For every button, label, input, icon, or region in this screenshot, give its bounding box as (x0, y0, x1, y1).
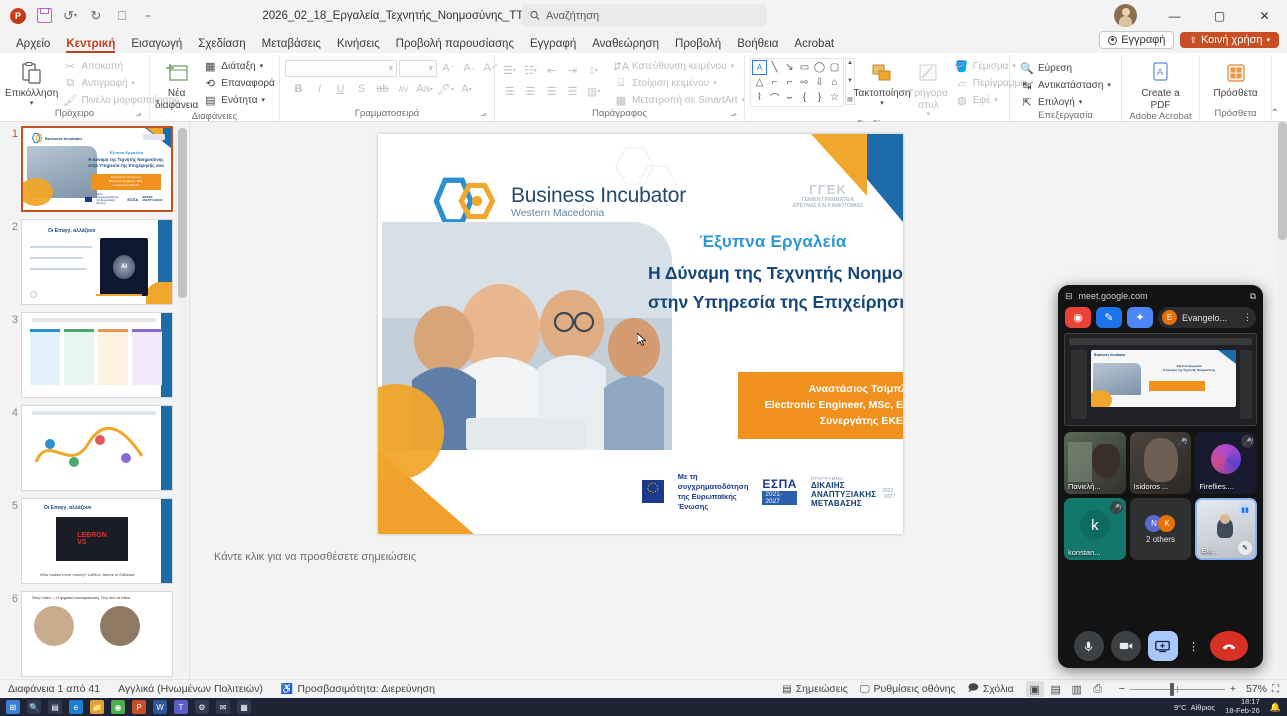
layout-caret-icon: ▾ (260, 62, 264, 70)
create-pdf-button[interactable]: A Create a PDF (1133, 58, 1189, 111)
participant-name: Isidoros ... (1134, 482, 1169, 491)
slide-title-line1: Έξυπνα Εργαλεία (648, 232, 898, 252)
justify-button[interactable]: ☰ (563, 82, 582, 100)
participant-tile[interactable]: Πανιελή... (1064, 432, 1126, 494)
slide-title-block[interactable]: Έξυπνα Εργαλεία Η Δύναμη της Τεχνητής Νο… (648, 232, 898, 316)
strikethrough-button[interactable]: ab (373, 80, 392, 98)
display-settings-label: Ρυθμίσεις οθόνης (873, 683, 955, 695)
thumbnail-number: 6 (4, 591, 18, 605)
slide-count-label[interactable]: Διαφάνεια 1 από 41 (8, 683, 100, 695)
ribbon-group-clipboard: Επικόλληση ▾ ✂Αποκοπή ⧉Αντιγραφή▾ 🖌Πινέλ… (0, 55, 150, 121)
select-icon: ⇱ (1020, 95, 1034, 109)
share-label: Κοινή χρήση (1201, 34, 1263, 46)
espa-years: 2021-2027 (762, 491, 797, 505)
eu-cofunding-text: Με τη συγχρηματοδότηση της Ευρωπαϊκής Έν… (678, 472, 749, 513)
freeform-shape-icon[interactable]: ⌇ (752, 90, 767, 105)
reset-button[interactable]: ⟲Επαναφορά (200, 75, 278, 91)
tab-metavaseis[interactable]: Μεταβάσεις (254, 37, 329, 53)
section-caret-icon: ▾ (262, 96, 266, 104)
logo-title: Business Incubator (511, 184, 686, 208)
participant-tile-active[interactable]: ▮▮ Evi... ✎ (1195, 498, 1257, 560)
layout-button[interactable]: ▦Διάταξη▾ (200, 58, 278, 74)
mail-icon[interactable]: ✉ (216, 700, 230, 714)
thumbnail-number: 4 (4, 405, 18, 419)
logo-subtitle: Western Macedonia (511, 207, 686, 219)
participant-tile[interactable]: 🎤̸ Isidoros ... (1130, 432, 1192, 494)
thumbnail-preview[interactable]: Business Incubator Έξυπνα Εργαλεία Η Δύν… (21, 126, 173, 212)
right-arrow-shape-icon[interactable]: ⇨ (797, 75, 812, 90)
shape-effects-icon: ◍ (955, 93, 969, 107)
thumbnail-preview[interactable] (21, 312, 173, 398)
tab-anatheorisi[interactable]: Αναθεώρηση (584, 37, 667, 53)
rectangle-shape-icon[interactable]: ▭ (797, 60, 812, 75)
notes-button[interactable]: ▤ Σημειώσεις (782, 683, 848, 695)
powerpoint-logo-icon: P (6, 5, 30, 27)
shape-fill-label: Γέμισμα (973, 61, 1009, 72)
thumbnail-title: Οι Επαγγ. αλλάζουν (44, 505, 92, 511)
align-text-button[interactable]: ⌸Στοίχιση κειμένου▾ (611, 75, 748, 91)
stage-scrollbar-thumb[interactable] (1278, 122, 1287, 240)
increase-font-size-button[interactable]: A⌃ (439, 59, 458, 77)
business-incubator-logo: Business Incubator Western Macedonia (426, 176, 686, 226)
section-label: Ενότητα (221, 95, 257, 106)
participant-name: Fireflies.... (1199, 482, 1234, 491)
meet-pip-restore-icon[interactable]: ⧉ (1250, 291, 1256, 302)
zoom-slider[interactable]: − + 57% ⛶ (1119, 683, 1279, 695)
ribbon-group-acrobat: A Create a PDF Adobe Acrobat (1122, 55, 1200, 121)
tab-kiniseis[interactable]: Κινήσεις (329, 37, 388, 53)
windows-taskbar: ⊞ 🔍 ▤ e 📁 ◉ P W T ⚙ ✉ ▦ 9°C Αίθριος 18:1… (0, 698, 1287, 716)
annotate-button[interactable]: ✎ (1096, 307, 1122, 328)
group-avatar-k: K (1158, 515, 1175, 532)
arrange-label: Τακτοποίηση (854, 88, 911, 100)
view-slideshow-button[interactable]: ⎙ (1089, 681, 1107, 697)
group-title-clipboard: Πρόχειρο⬏ (5, 108, 144, 121)
ribbon-group-addins: Πρόσθετα Πρόσθετα (1200, 55, 1272, 121)
reset-icon: ⟲ (203, 76, 217, 90)
meet-url: meet.google.com (1079, 291, 1244, 301)
find-button[interactable]: 🔍Εύρεση (1017, 60, 1114, 76)
align-text-label: Στοίχιση κειμένου (632, 78, 709, 89)
gsri-abbr: ΓΓΕΚ (793, 182, 863, 197)
section-button[interactable]: ▤Ενότητα▾ (200, 92, 278, 108)
cut-icon: ✂ (63, 59, 77, 73)
user-more-icon[interactable]: ⋮ (1243, 312, 1252, 323)
gemini-button[interactable]: ✦ (1127, 307, 1153, 328)
cut-label: Αποκοπή (81, 61, 123, 72)
search-box[interactable]: Αναζήτηση (521, 4, 766, 27)
select-label: Επιλογή (1038, 97, 1075, 108)
program-years: 2021-2027 (882, 488, 895, 500)
create-pdf-icon: A (1150, 60, 1172, 86)
save-icon[interactable] (32, 5, 56, 27)
change-case-button[interactable]: Aa▾ (415, 80, 434, 98)
convert-smartart-button[interactable]: ▩Μετατροπή σε SmartArt▾ (611, 92, 748, 108)
font-dialog-launcher[interactable]: ⬏ (480, 111, 487, 120)
file-explorer-icon[interactable]: 📁 (90, 700, 104, 714)
font-color-button[interactable]: A▾ (457, 80, 476, 98)
chrome-icon[interactable]: ◉ (111, 700, 125, 714)
program-logo: ΠΡΟΓΡΑΜΜΑ ΔΙΚΑΙΗΣ ΑΝΑΠΤΥΞΙΑΚΗΣ ΜΕΤΑΒΑΣΗΣ… (811, 476, 895, 508)
paragraph-dialog-launcher[interactable]: ⬏ (730, 111, 737, 120)
bullets-button[interactable]: ☰▾ (500, 61, 519, 79)
hangup-button[interactable] (1210, 631, 1248, 661)
thumbnail-number: 3 (4, 312, 18, 326)
zoom-out-button[interactable]: − (1119, 683, 1125, 695)
curve-shape-icon[interactable]: ⌒ (767, 90, 782, 105)
thumbnail-slide-2[interactable]: 2 Οι Επαγγ. αλλάζουν AI (0, 219, 189, 305)
word-taskbar-icon[interactable]: W (153, 700, 167, 714)
create-pdf-label: Create a PDF (1133, 88, 1189, 111)
ribbon: Επικόλληση ▾ ✂Αποκοπή ⧉Αντιγραφή▾ 🖌Πινέλ… (0, 53, 1287, 122)
ribbon-group-drawing: A ╲ ↘ ▭ ◯ ▢ △ ⌐ ⌐ ⇨ ⇩ ⌂ ⌇ ⌒ ⌣ (745, 55, 1010, 121)
text-highlight-color-button[interactable]: 🖊▾ (436, 80, 455, 98)
ribbon-group-editing: 🔍Εύρεση ↹Αντικατάσταση▾ ⇱Επιλογή▾ Επεξερ… (1010, 55, 1122, 121)
system-tray: 9°C Αίθριος 18:17 18-Feb-26 🔔 (1174, 698, 1281, 715)
record-button[interactable]: Εγγραφή (1099, 31, 1174, 49)
mic-off-icon: 🎤̸ (1241, 435, 1254, 448)
powerpoint-taskbar-icon[interactable]: P (132, 700, 146, 714)
accessibility-label: Προσβασιμότητα: Διερεύνηση (297, 683, 435, 695)
star-shape-icon[interactable]: ☆ (827, 90, 842, 105)
new-slide-icon (165, 60, 189, 86)
shape-outline-icon: ▱ (955, 76, 969, 90)
text-direction-label: Κατεύθυνση κειμένου (632, 61, 727, 72)
new-slide-button[interactable]: Νέα διαφάνεια (155, 58, 198, 111)
tab-sxediasi[interactable]: Σχεδίαση (190, 37, 253, 53)
customize-qat-icon[interactable]: ⩦ (136, 5, 160, 27)
copy-icon: ⧉ (63, 76, 77, 90)
quick-access-toolbar: P ↺▾ ↻ ⎕ ⩦ (6, 5, 160, 27)
thumbnail-preview[interactable]: Deep Video — Η ψηφιακή αναπαράσταση, Πώς… (21, 591, 173, 677)
layout-icon: ▦ (203, 59, 217, 73)
quick-styles-button: Γρήγορα στυλ ▾ (909, 58, 948, 119)
svg-text:A: A (1157, 67, 1163, 77)
meet-url-bar: ⊟ meet.google.com ⧉ (1058, 285, 1263, 307)
replace-button[interactable]: ↹Αντικατάσταση▾ (1017, 77, 1114, 93)
pentagon-shape-icon[interactable]: ⌂ (827, 75, 842, 90)
thumbnail-title: Οι Επαγγ. αλλάζουν (48, 228, 96, 234)
replace-icon: ↹ (1020, 78, 1034, 92)
mic-off-icon: 🎤̸ (1110, 501, 1123, 514)
share-button[interactable]: ⇪ Κοινή χρήση ▾ (1180, 32, 1279, 48)
eu-line2: της Ευρωπαϊκής Ένωσης (678, 492, 749, 512)
user-initial-avatar: E (1162, 310, 1177, 325)
underline-button[interactable]: U (331, 80, 350, 98)
select-button[interactable]: ⇱Επιλογή▾ (1017, 94, 1114, 110)
share-icon: ⇪ (1189, 35, 1197, 46)
zoom-in-button[interactable]: + (1230, 683, 1236, 695)
align-center-button[interactable]: ☰ (521, 82, 540, 100)
bold-button[interactable]: B (289, 80, 308, 98)
tab-provoli[interactable]: Προβολή (667, 37, 729, 53)
view-reading-button[interactable]: ▥ (1068, 681, 1086, 697)
speaker-box[interactable]: Αναστάσιος Τσίμπλινας Electronic Enginee… (738, 372, 903, 439)
espa-logo: ΕΣΠΑ 2021-2027 (762, 478, 797, 506)
tab-voitheia[interactable]: Βοήθεια (729, 37, 786, 53)
taskbar-clock[interactable]: 18:17 18-Feb-26 (1225, 698, 1260, 715)
eu-line1: Με τη συγχρηματοδότηση (678, 472, 749, 492)
zoom-handle[interactable] (1170, 683, 1174, 696)
settings-icon[interactable]: ⚙ (195, 700, 209, 714)
right-brace-icon[interactable]: } (812, 90, 827, 105)
arc-shape-icon[interactable]: ⌣ (782, 90, 797, 105)
camera-button[interactable] (1111, 631, 1141, 661)
view-normal-button[interactable]: ▣ (1026, 681, 1044, 697)
copy-caret-icon: ▾ (132, 79, 136, 87)
thumbnail-preview[interactable] (21, 405, 173, 491)
start-button-icon[interactable]: ⊞ (6, 700, 20, 714)
thumbnail-preview[interactable]: Οι Επαγγ. αλλάζουν AI (21, 219, 173, 305)
current-slide[interactable]: Business Incubator Western Macedonia ΓΓΕ… (378, 134, 903, 534)
redo-icon[interactable]: ↻ (84, 5, 108, 27)
paste-label: Επικόλληση (5, 88, 58, 100)
user-label: Evangelo... (1182, 313, 1238, 323)
shadow-button[interactable]: S (352, 80, 371, 98)
accessibility-button[interactable]: ♿ Προσβασιμότητα: Διερεύνηση (281, 683, 435, 695)
logo-hexagons-icon (426, 176, 502, 226)
slide-footer-logos: Με τη συγχρηματοδότηση της Ευρωπαϊκής Έν… (642, 472, 895, 513)
undo-icon[interactable]: ↺▾ (58, 5, 82, 27)
shapes-more-icon[interactable]: ▤ (847, 96, 853, 103)
display-settings-icon: 🖵 (860, 684, 870, 695)
group-title-addins: Πρόσθετα (1205, 108, 1266, 121)
notes-placeholder: Κάντε κλικ για να προσθέσετε σημειώσεις (214, 551, 416, 563)
comment-icon: 🗩 (968, 681, 979, 698)
oval-shape-icon[interactable]: ◯ (812, 60, 827, 75)
meet-action-bar: ◉ ✎ ✦ E Evangelo... ⋮ (1058, 307, 1263, 333)
shapes-gallery[interactable]: A ╲ ↘ ▭ ◯ ▢ △ ⌐ ⌐ ⇨ ⇩ ⌂ ⌇ ⌒ ⌣ (750, 58, 844, 107)
close-button[interactable]: ✕ (1242, 0, 1287, 31)
participant-name: konstan... (1068, 548, 1101, 557)
participant-name: Evi... (1201, 546, 1218, 555)
edge-icon[interactable]: e (69, 700, 83, 714)
section-icon: ▤ (203, 93, 217, 107)
thumbnail-slide-1[interactable]: 1 Business Incubator Έξυπνα Εργαλεία Η Δ… (0, 126, 189, 212)
view-slide-sorter-button[interactable]: ▤ (1047, 681, 1065, 697)
thumbnail-slide-4[interactable]: 4 (0, 405, 189, 491)
italic-button[interactable]: I (310, 80, 329, 98)
search-icon: 🔍 (1020, 61, 1034, 75)
teams-icon[interactable]: T (174, 700, 188, 714)
title-bar: P ↺▾ ↻ ⎕ ⩦ 2026_02_18_Εργαλεία_Τεχνητής_… (0, 0, 1287, 31)
more-options-button[interactable]: ⋮ (1185, 631, 1203, 661)
share-caret-icon: ▾ (1266, 36, 1270, 44)
align-right-button[interactable]: ☰ (542, 82, 561, 100)
ribbon-group-slides: Νέα διαφάνεια ▦Διάταξη▾ ⟲Επαναφορά ▤Ενότ… (150, 55, 280, 121)
record-dot-icon (1108, 36, 1117, 45)
tab-provoli-parousiasis[interactable]: Προβολή παρουσίασης (388, 37, 522, 53)
textbox-shape-icon[interactable]: A (752, 60, 767, 75)
layout-label: Διάταξη (221, 61, 255, 72)
mic-button[interactable] (1074, 631, 1104, 661)
text-direction-icon: ⇵A (614, 59, 628, 73)
clipboard-dialog-launcher[interactable]: ⬏ (135, 111, 142, 120)
record-button[interactable]: ◉ (1065, 307, 1091, 328)
format-painter-icon: 🖌 (63, 93, 77, 107)
fit-to-window-button[interactable]: ⛶ (1272, 684, 1279, 695)
numbering-button[interactable]: ☷▾ (521, 61, 540, 79)
reset-label: Επαναφορά (221, 78, 275, 89)
thumbnail-preview[interactable]: Οι Επαγγ. αλλάζουν LEBRONVS Who makes mo… (21, 498, 173, 584)
new-slide-label: Νέα διαφάνεια (155, 88, 198, 111)
find-label: Εύρεση (1038, 63, 1072, 74)
elbow-connector-icon[interactable]: ⌐ (767, 75, 782, 90)
tab-arxeio[interactable]: Αρχείο (8, 37, 58, 53)
group-title-font: Γραμματοσειρά⬏ (285, 108, 489, 121)
slide-title-line2: Η Δύναμη της Τεχνητής Νοημοσύνης (648, 261, 898, 286)
user-avatar[interactable] (1114, 4, 1137, 27)
thumbnail-slide-5[interactable]: 5 Οι Επαγγ. αλλάζουν LEBRONVS Who makes … (0, 498, 189, 584)
group-title-paragraph: Παράγραφος⬏ (500, 108, 739, 121)
tab-acrobat[interactable]: Acrobat (786, 37, 842, 53)
speaker-name: Αναστάσιος Τσίμπλινας (744, 382, 903, 398)
thumbnail-number: 1 (4, 126, 18, 140)
columns-button[interactable]: ▥▾ (584, 82, 603, 100)
paste-icon (21, 60, 43, 86)
participant-tile[interactable]: k 🎤̸ konstan... (1064, 498, 1126, 560)
meet-shared-screen-preview[interactable]: Business Incubator Έξυπνα ΕργαλείαΗ Δύνα… (1064, 333, 1257, 426)
tab-eggrafi[interactable]: Εγγραφή (522, 37, 584, 53)
espa-label: ΕΣΠΑ (762, 478, 797, 490)
present-button[interactable] (1148, 631, 1178, 661)
tab-kentriki[interactable]: Κεντρική (58, 37, 123, 53)
eu-flag-icon (642, 480, 664, 503)
weather-widget[interactable]: 9°C Αίθριος (1174, 703, 1215, 712)
pin-icon[interactable]: ✎ (1238, 541, 1252, 555)
notes-icon: ▤ (782, 684, 791, 695)
weather-temp: 9°C (1174, 703, 1187, 712)
minimize-button[interactable]: — (1152, 0, 1197, 31)
comments-button[interactable]: 🗩 Σχόλια (968, 681, 1014, 698)
google-meet-pip-window[interactable]: ⊟ meet.google.com ⧉ ◉ ✎ ✦ E Evangelo... … (1058, 285, 1263, 668)
line-shape-icon[interactable]: ╲ (767, 60, 782, 75)
decrease-font-size-button[interactable]: A⌄ (460, 59, 479, 77)
meet-current-user[interactable]: E Evangelo... ⋮ (1158, 307, 1256, 328)
slide-thumbnail-pane[interactable]: 1 Business Incubator Έξυπνα Εργαλεία Η Δ… (0, 122, 190, 679)
program-name: ΔΙΚΑΙΗΣ ΑΝΑΠΤΥΞΙΑΚΗΣ ΜΕΤΑΒΑΣΗΣ (811, 481, 876, 508)
left-brace-icon[interactable]: { (797, 90, 812, 105)
start-presentation-icon[interactable]: ⎕ (110, 5, 134, 27)
notifications-icon[interactable]: 🔔 (1270, 702, 1281, 713)
tab-eisagogi[interactable]: Εισαγωγή (123, 37, 190, 53)
line-spacing-button[interactable]: ↕▾ (584, 61, 603, 79)
ribbon-tabs: Αρχείο Κεντρική Εισαγωγή Σχεδίαση Μεταβά… (0, 31, 1287, 53)
status-bar: Διαφάνεια 1 από 41 Αγγλικά (Ηνωμένων Πολ… (0, 679, 1287, 698)
shape-fill-icon: 🪣 (955, 59, 969, 73)
participant-tile-group[interactable]: N K 2 others (1130, 498, 1192, 560)
ribbon-group-font: ▾ ▾ A⌃ A⌄ A🖉 B I U S ab AV Aa▾ 🖊▾ A▾ (280, 55, 495, 121)
thumbnail-number: 5 (4, 498, 18, 512)
participant-name: Πανιελή... (1068, 482, 1101, 491)
ribbon-group-paragraph: ☰▾ ☷▾ ⇤ ⇥ ↕▾ ☰ ☰ ☰ ☰ ▥▾ ⇵AΚατεύ (495, 55, 745, 121)
zoom-track[interactable] (1130, 689, 1225, 690)
gsri-line2: ΕΡΕΥΝΑΣ ΚΑΙ ΚΑΙΝΟΤΟΜΙΑΣ (793, 203, 863, 209)
notes-label: Σημειώσεις (796, 683, 848, 695)
search-placeholder: Αναζήτηση (546, 10, 599, 22)
slide-title-line3: στην Υπηρεσία της Επιχείρησής σου (648, 290, 898, 315)
shapes-scroll-up-icon[interactable]: ▲ (847, 60, 853, 66)
arrange-icon (871, 60, 893, 86)
accessibility-icon: ♿ (281, 684, 293, 695)
text-direction-button[interactable]: ⇵AΚατεύθυνση κειμένου▾ (611, 58, 748, 74)
mic-off-icon: 🎤̸ (1175, 435, 1188, 448)
weather-condition: Αίθριος (1191, 703, 1216, 712)
increase-indent-button[interactable]: ⇥ (563, 61, 582, 79)
gsri-logo: ΓΓΕΚ ΓΕΝΙΚΗ ΓΡΑΜΜΑΤΕΙΑ ΕΡΕΥΝΑΣ ΚΑΙ ΚΑΙΝΟ… (793, 182, 863, 209)
meet-tab-icon: ⊟ (1065, 291, 1073, 302)
speaking-indicator-icon: ▮▮ (1238, 503, 1252, 517)
search-taskbar-icon[interactable]: 🔍 (27, 700, 41, 714)
comments-label: Σχόλια (983, 683, 1014, 695)
window-controls: — ▢ ✕ (1152, 0, 1287, 31)
add-ins-label: Πρόσθετα (1213, 88, 1257, 100)
thumbnail-number: 2 (4, 219, 18, 233)
thumbnail-slide-6[interactable]: 6 Deep Video — Η ψηφιακή αναπαράσταση, Π… (0, 591, 189, 677)
meet-control-bar: ⋮ (1058, 624, 1263, 668)
character-spacing-button[interactable]: AV (394, 80, 413, 98)
paste-button[interactable]: Επικόλληση ▾ (5, 58, 58, 108)
smartart-icon: ▩ (614, 93, 628, 107)
shapes-scroll-down-icon[interactable]: ▼ (847, 78, 853, 84)
copy-label: Αντιγραφή (81, 78, 127, 89)
replace-label: Αντικατάσταση (1038, 80, 1103, 91)
clock-date: 18-Feb-26 (1225, 707, 1260, 716)
speaker-role-line1: Electronic Engineer, MSc, Επιστημονικός (744, 398, 903, 414)
calendar-icon[interactable]: ▦ (237, 700, 251, 714)
decrease-indent-button[interactable]: ⇤ (542, 61, 561, 79)
participant-tile[interactable]: 🎤̸ Fireflies.... (1195, 432, 1257, 494)
shape-effects-label: Εφέ (973, 95, 991, 106)
add-ins-icon (1225, 60, 1247, 86)
align-text-icon: ⌸ (614, 76, 628, 90)
triangle-shape-icon[interactable]: △ (752, 75, 767, 90)
font-name-input[interactable]: ▾ (285, 60, 397, 77)
display-settings-button[interactable]: 🖵 Ρυθμίσεις οθόνης (860, 683, 956, 695)
add-ins-button[interactable]: Πρόσθετα (1208, 58, 1264, 100)
language-label[interactable]: Αγγλικά (Ηνωμένων Πολιτειών) (118, 683, 263, 695)
quick-styles-label: Γρήγορα στυλ (909, 88, 948, 111)
quick-styles-icon (917, 60, 939, 86)
speaker-role-line2: Συνεργάτης ΕΚΕΤΑ (744, 414, 903, 430)
group-label: 2 others (1146, 535, 1175, 544)
thumbnail-slide-3[interactable]: 3 (0, 312, 189, 398)
arrow-shape-icon[interactable]: ↘ (782, 60, 797, 75)
down-arrow-shape-icon[interactable]: ⇩ (812, 75, 827, 90)
font-size-input[interactable]: ▾ (399, 60, 437, 77)
document-filename: 2026_02_18_Εργαλεία_Τεχνητής_Νοημοσύνης_… (262, 10, 547, 22)
smartart-label: Μετατροπή σε SmartArt (632, 95, 738, 106)
paste-caret-icon[interactable]: ▾ (30, 100, 34, 108)
rounded-rect-shape-icon[interactable]: ▢ (827, 60, 842, 75)
collapse-ribbon-icon[interactable]: ⌃ (1271, 108, 1279, 119)
align-left-button[interactable]: ☰ (500, 82, 519, 100)
maximize-button[interactable]: ▢ (1197, 0, 1242, 31)
search-icon (529, 10, 540, 21)
thumbnail-scrollbar-thumb[interactable] (178, 128, 187, 298)
arrange-button[interactable]: Τακτοποίηση ▾ (855, 58, 909, 108)
zoom-level-label: 57% (1241, 683, 1267, 695)
task-view-icon[interactable]: ▤ (48, 700, 62, 714)
meet-participants-grid: Πανιελή... 🎤̸ Isidoros ... 🎤̸ Fireflies.… (1058, 426, 1263, 566)
record-label: Εγγραφή (1121, 34, 1165, 46)
bent-arrow-icon[interactable]: ⌐ (782, 75, 797, 90)
